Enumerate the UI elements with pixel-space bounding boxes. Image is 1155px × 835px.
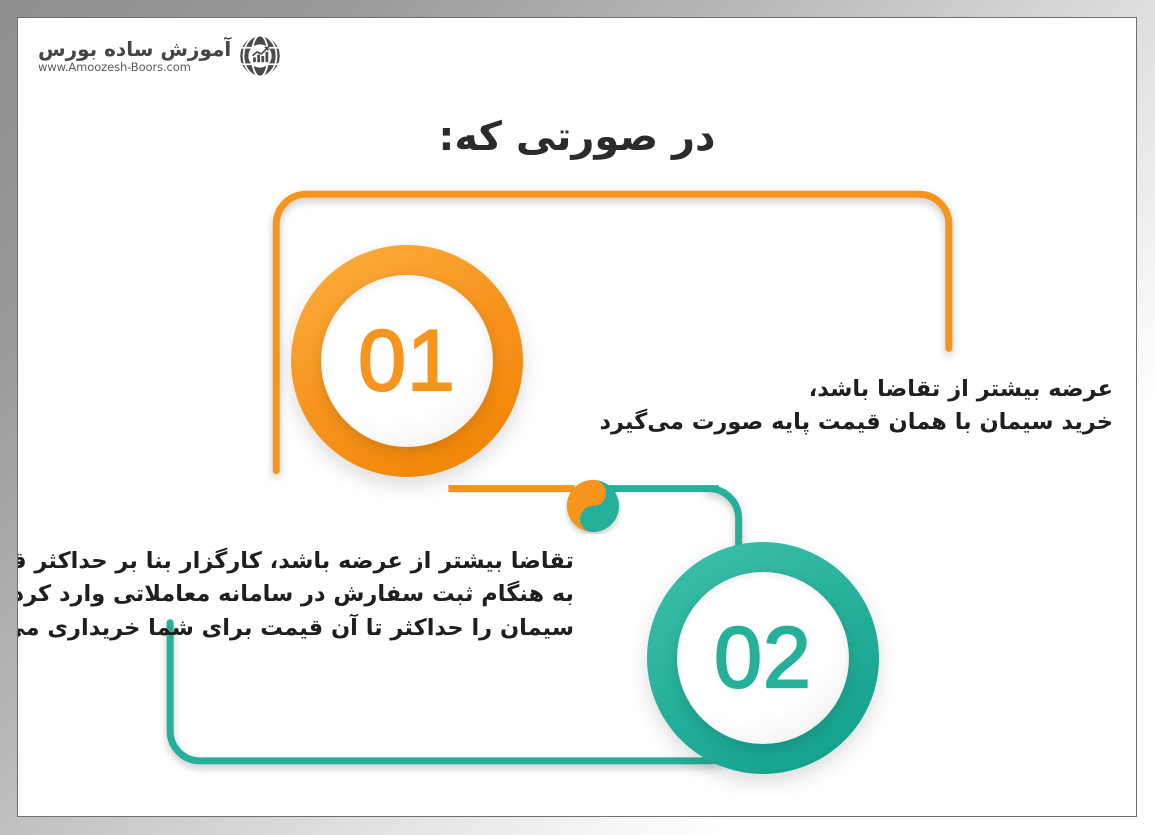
step-02-text: تقاضا بیشتر از عرضه باشد، کارگزار بنا بر…: [24, 545, 574, 645]
brand-name: آموزش ساده بورس: [38, 39, 231, 59]
step-badge-01[interactable]: 01: [291, 245, 523, 477]
step-01-text: عرضه بیشتر از تقاضا باشد، خرید سیمان با …: [553, 373, 1113, 440]
brand-url: www.Amoozesh-Boors.com: [38, 62, 231, 74]
badge-02-face: 02: [677, 572, 849, 744]
step-02-line-1: تقاضا بیشتر از عرضه باشد، کارگزار بنا بر…: [24, 545, 574, 578]
step-badge-02[interactable]: 02: [647, 542, 879, 774]
step-01-line-2: خرید سیمان با همان قیمت پایه صورت می‌گیر…: [553, 406, 1113, 439]
poster-canvas: آموزش ساده بورس www.Amoozesh-Boors.com د…: [18, 18, 1136, 816]
infographic-poster: آموزش ساده بورس www.Amoozesh-Boors.com د…: [0, 0, 1155, 835]
badge-02-number: 02: [714, 609, 812, 708]
yin-yang-dot-icon: [565, 478, 621, 534]
page-title: در صورتی که:: [18, 114, 1136, 160]
brand-logo[interactable]: آموزش ساده بورس www.Amoozesh-Boors.com: [38, 34, 282, 78]
badge-01-face: 01: [321, 275, 493, 447]
step-01-line-1: عرضه بیشتر از تقاضا باشد،: [553, 373, 1113, 406]
step-02-line-3: سیمان را حداکثر تا آن قیمت برای شما خرید…: [24, 612, 574, 645]
step-02-line-2: به هنگام ثبت سفارش در سامانه معاملاتی وا…: [24, 578, 574, 611]
brand-wordmark: آموزش ساده بورس www.Amoozesh-Boors.com: [38, 39, 231, 74]
globe-chart-icon: [238, 34, 282, 78]
badge-01-number: 01: [358, 312, 456, 411]
